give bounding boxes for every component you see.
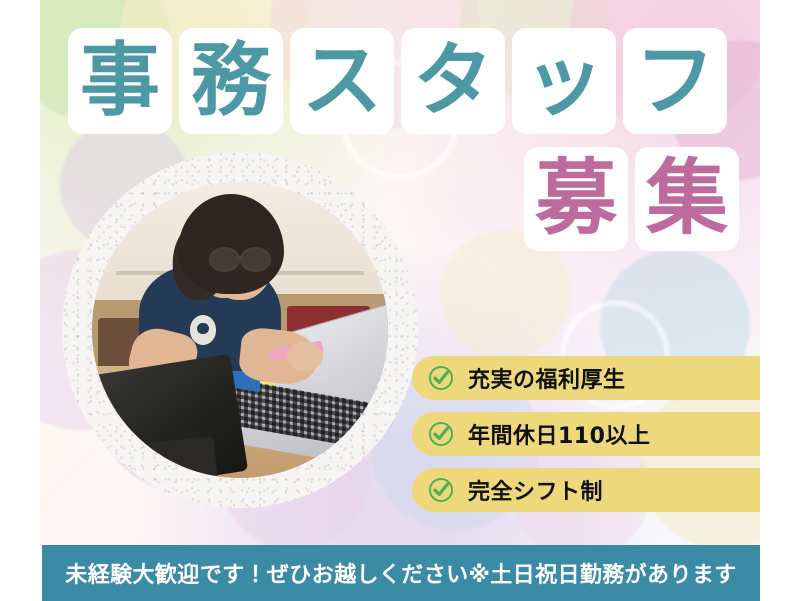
- headline-char: ス: [302, 41, 382, 121]
- headline-tile: ッ: [512, 28, 616, 134]
- subhead-char: 募: [535, 158, 617, 240]
- headline-char: ッ: [524, 41, 604, 121]
- headline-char: フ: [635, 41, 715, 121]
- headline-tile: 事: [68, 28, 172, 134]
- photo-glasses-bridge: [236, 256, 242, 258]
- headline-tile: 務: [179, 28, 283, 134]
- headline-char: 務: [191, 41, 271, 121]
- feature-item: 年間休日110以上: [412, 412, 760, 456]
- headline-tile: ス: [290, 28, 394, 134]
- staff-photo: [92, 182, 388, 478]
- headline-char: 事: [80, 41, 160, 121]
- bottom-banner-text: 未経験大歓迎です！ぜひお越しください※土日祝日勤務があります: [65, 557, 736, 589]
- photo-shirt-logo-dot: [197, 323, 209, 335]
- subhead-tile: 集: [635, 147, 739, 251]
- feature-item: 充実の福利厚生: [412, 356, 760, 400]
- bottom-banner: 未経験大歓迎です！ぜひお越しください※土日祝日勤務があります: [42, 545, 760, 601]
- feature-item: 完全シフト制: [412, 468, 760, 512]
- check-circle-icon: [428, 421, 454, 447]
- subhead-char: 集: [646, 158, 728, 240]
- subhead-tile: 募: [524, 147, 628, 251]
- check-circle-icon: [428, 365, 454, 391]
- feature-label: 完全シフト制: [468, 474, 603, 506]
- job-ad-poster: 事 務 ス タ ッ フ 募 集: [0, 0, 800, 601]
- photo-glasses-left: [209, 247, 240, 272]
- photo-person-hand-right: [287, 342, 323, 372]
- headline-char: タ: [413, 41, 493, 121]
- feature-label: 年間休日110以上: [468, 418, 650, 450]
- photo-glasses-right: [240, 247, 271, 272]
- staff-photo-circle: [62, 152, 418, 508]
- headline-line1: 事 務 ス タ ッ フ: [68, 28, 727, 134]
- feature-list: 充実の福利厚生 年間休日110以上 完全シフト制: [412, 356, 760, 524]
- headline-line2: 募 集: [524, 147, 739, 251]
- headline-tile: タ: [401, 28, 505, 134]
- check-circle-icon: [428, 477, 454, 503]
- headline-tile: フ: [623, 28, 727, 134]
- feature-label: 充実の福利厚生: [468, 362, 626, 394]
